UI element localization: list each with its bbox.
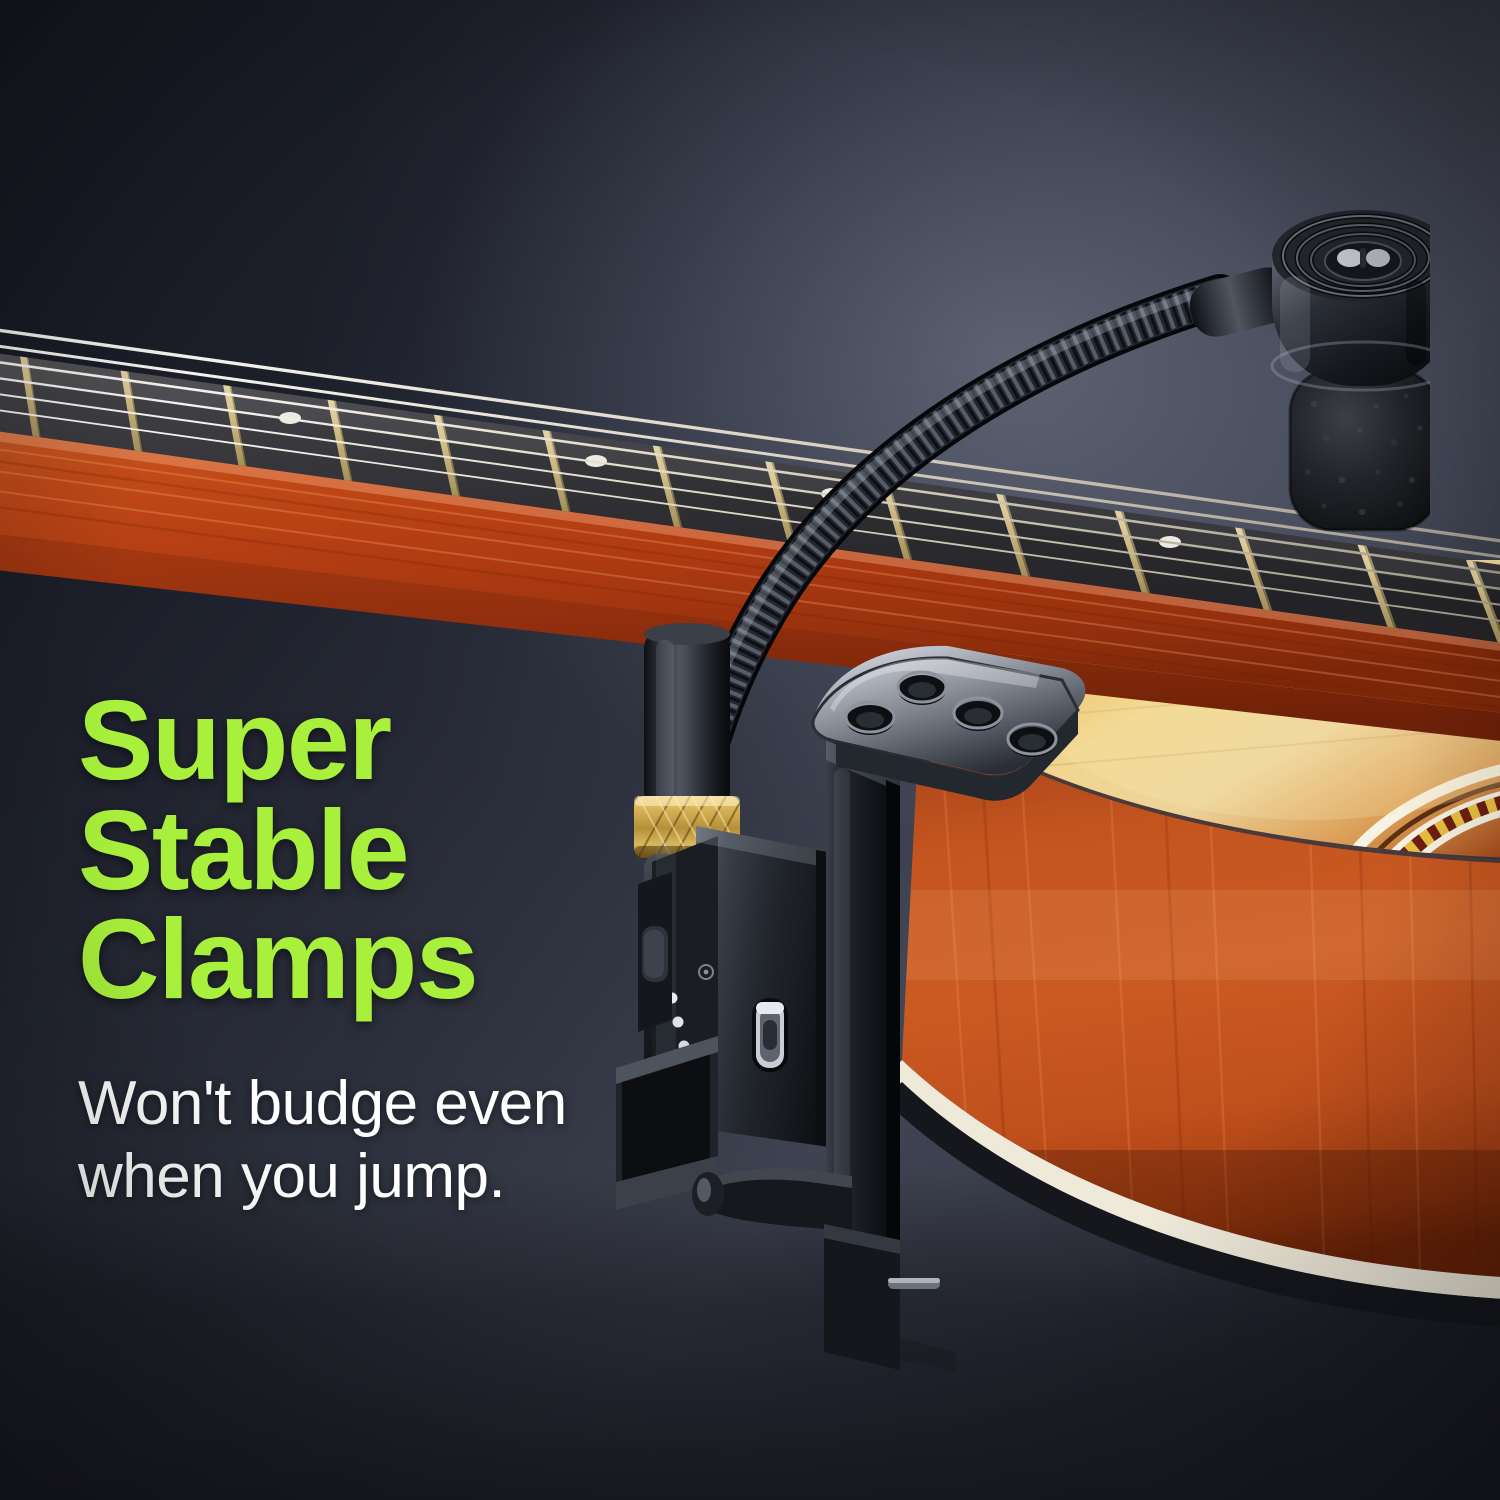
clamp-lower-foot <box>692 1168 956 1372</box>
microphone-head-group <box>1185 210 1430 530</box>
foam-windscreen <box>1290 370 1430 530</box>
marketing-copy-block: Super Stable Clamps Won't budge even whe… <box>78 686 718 1213</box>
mic-capsule-head <box>1272 210 1430 390</box>
usb-c-port[interactable] <box>752 998 788 1072</box>
headline-text: Super Stable Clamps <box>78 686 718 1015</box>
subheadline-text: Won't budge even when you jump. <box>78 1067 718 1213</box>
microphone-clamp-assembly <box>600 120 1430 1410</box>
product-hero-stage: Super Stable Clamps Won't budge even whe… <box>0 0 1500 1500</box>
